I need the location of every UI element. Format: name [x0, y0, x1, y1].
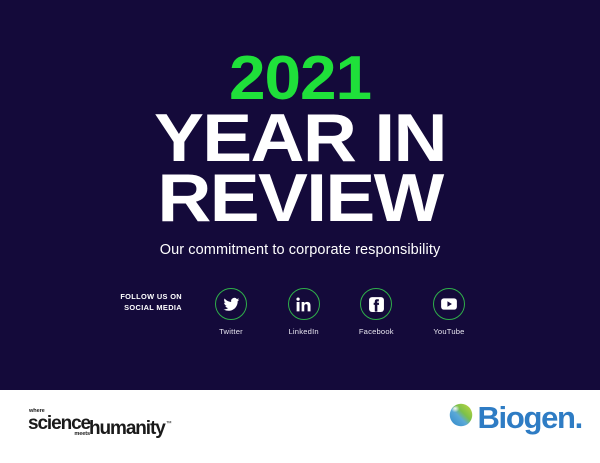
tagline-science-stack: where science meets — [28, 409, 90, 438]
year-in-review-slide: 2021 YEAR IN REVIEW Our commitment to co… — [0, 0, 600, 463]
tagline-lockup: where science meets humanity ™ — [28, 410, 171, 438]
tagline-trademark-icon: ™ — [166, 421, 172, 427]
linkedin-icon — [296, 297, 311, 312]
social-link-twitter[interactable]: Twitter — [200, 288, 262, 336]
twitter-icon-circle[interactable] — [215, 288, 247, 320]
tagline-meets: meets — [28, 432, 90, 438]
youtube-icon-circle[interactable] — [433, 288, 465, 320]
social-label-facebook: Facebook — [359, 327, 394, 336]
facebook-icon-circle[interactable] — [360, 288, 392, 320]
social-link-facebook[interactable]: Facebook — [345, 288, 407, 336]
social-link-linkedin[interactable]: LinkedIn — [273, 288, 335, 336]
biogen-wordmark: Biogen. — [477, 402, 582, 433]
title-block: 2021 YEAR IN REVIEW Our commitment to co… — [0, 52, 600, 258]
twitter-icon — [223, 296, 240, 313]
follow-us-label: FOLLOW US ON SOCIAL MEDIA — [120, 291, 182, 313]
tagline-science: science — [28, 416, 90, 432]
footer-section: where science meets humanity ™ — [0, 390, 600, 463]
social-label-linkedin: LinkedIn — [289, 327, 319, 336]
social-link-youtube[interactable]: YouTube — [418, 288, 480, 336]
linkedin-icon-circle[interactable] — [288, 288, 320, 320]
social-icon-list: Twitter LinkedIn — [200, 288, 480, 336]
facebook-icon — [368, 296, 385, 313]
year-heading: 2021 — [0, 52, 600, 105]
title-line-2: REVIEW — [0, 167, 600, 230]
hero-section: 2021 YEAR IN REVIEW Our commitment to co… — [0, 0, 600, 390]
social-label-twitter: Twitter — [219, 327, 243, 336]
social-label-youtube: YouTube — [433, 327, 464, 336]
social-media-row: FOLLOW US ON SOCIAL MEDIA Twitter — [120, 288, 480, 350]
biogen-logo: Biogen. — [446, 400, 582, 435]
tagline-humanity: humanity — [89, 421, 165, 437]
subtitle: Our commitment to corporate responsibili… — [0, 242, 600, 258]
youtube-icon — [440, 295, 458, 313]
biogen-globe-icon — [446, 400, 476, 435]
